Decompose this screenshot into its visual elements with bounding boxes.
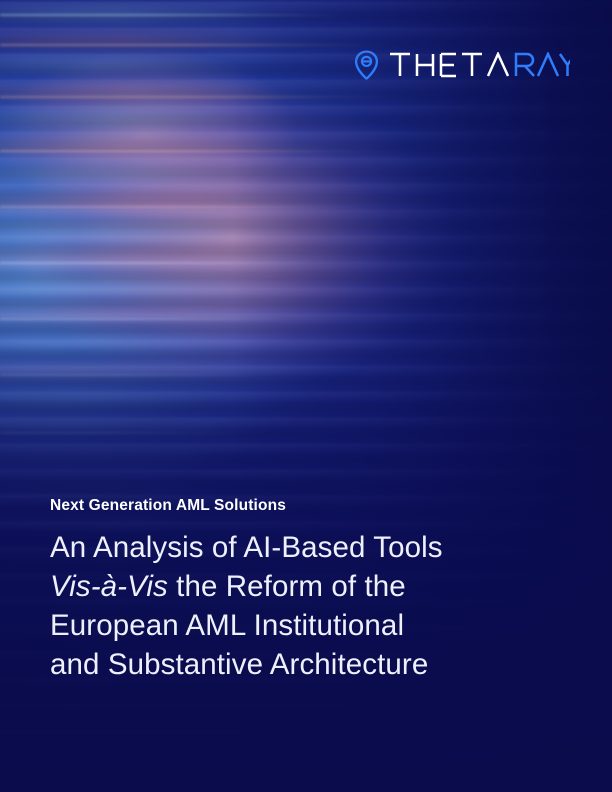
page-title-line-2: Vis-à-Vis the Reform of the	[50, 567, 530, 606]
background-streak	[0, 112, 367, 125]
background-streak	[0, 224, 379, 237]
background-streak	[0, 364, 343, 377]
background-streak	[0, 420, 282, 433]
page-title: An Analysis of AI-Based ToolsVis-à-Vis t…	[50, 528, 530, 684]
background-streak	[0, 280, 355, 293]
background-hairline	[0, 150, 379, 152]
background-hairline	[0, 374, 269, 376]
background-hairline	[0, 206, 367, 208]
logo-wordmark	[388, 52, 570, 78]
page-title-line-4: and Substantive Architecture	[50, 645, 530, 684]
title-text: An Analysis of AI-Based Tools	[50, 531, 443, 564]
background-streak	[0, 392, 306, 405]
background-streak	[0, 58, 343, 71]
cover-eyebrow: Next Generation AML Solutions	[50, 497, 530, 516]
background-hairline	[0, 262, 318, 264]
background-streak	[0, 8, 379, 21]
background-hairline	[0, 432, 245, 434]
background-streak	[0, 482, 233, 495]
background-hairline	[0, 14, 343, 16]
page-title-line-3: European AML Institutional	[50, 606, 530, 645]
background-streak	[0, 252, 404, 265]
theta-location-pin-icon	[354, 50, 379, 80]
background-streak	[0, 758, 110, 771]
cover-title-block: Next Generation AML Solutions An Analysi…	[50, 497, 530, 684]
background-streak	[0, 86, 428, 99]
background-hairline	[0, 494, 208, 496]
background-hairline	[0, 318, 294, 320]
cover-page: Next Generation AML Solutions An Analysi…	[0, 0, 612, 792]
background-streak	[0, 196, 422, 209]
background-streak	[0, 450, 257, 463]
title-text: European AML Institutional	[50, 609, 404, 642]
thetaray-logo	[354, 48, 570, 82]
background-streak	[0, 336, 330, 349]
background-hairline	[0, 44, 392, 46]
background-hairline	[0, 96, 404, 98]
background-streak	[0, 716, 122, 729]
page-title-line-1: An Analysis of AI-Based Tools	[50, 528, 530, 567]
background-streak	[0, 140, 404, 153]
title-emphasis: Vis-à-Vis	[50, 570, 168, 603]
background-streak	[0, 168, 355, 181]
title-text: the Reform of the	[168, 570, 406, 603]
background-streak	[0, 308, 379, 321]
background-streak	[0, 34, 416, 47]
title-text: and Substantive Architecture	[50, 648, 428, 681]
